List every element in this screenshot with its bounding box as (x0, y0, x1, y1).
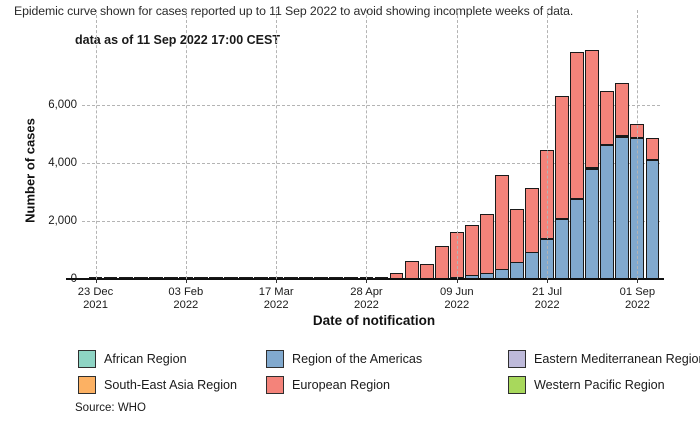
gridline-vertical (96, 10, 97, 279)
x-tick-label: 28 Apr2022 (350, 286, 382, 312)
x-tick-label: 23 Dec2021 (78, 286, 113, 312)
gridline-vertical (637, 10, 638, 279)
x-tick-mark (637, 279, 638, 283)
legend-label: Western Pacific Region (534, 378, 665, 392)
x-tick-mark (276, 279, 277, 283)
x-tick-mark (547, 279, 548, 283)
legend-label: South-East Asia Region (104, 378, 237, 392)
chart-frame: Number of cases 02,0004,0006,000 23 Dec2… (0, 55, 700, 335)
legend-swatch (266, 376, 284, 394)
header-note: Epidemic curve shown for cases reported … (14, 4, 686, 18)
legend-swatch (266, 350, 284, 368)
x-tick-mark (457, 279, 458, 283)
x-tick-label: 09 Jun2022 (440, 286, 474, 312)
y-tick-label: 6,000 (48, 99, 77, 111)
gridline-vertical (276, 10, 277, 279)
legend-item[interactable]: European Region (266, 376, 508, 394)
gridline-vertical (457, 10, 458, 279)
legend-item[interactable]: Region of the Americas (266, 350, 508, 368)
gridline-vertical (186, 10, 187, 279)
legend-swatch (78, 350, 96, 368)
legend-label: Region of the Americas (292, 352, 422, 366)
legend-item[interactable]: African Region (78, 350, 266, 368)
legend-swatch (78, 376, 96, 394)
x-tick-label: 03 Feb2022 (168, 286, 203, 312)
legend-swatch (508, 376, 526, 394)
legend-label: African Region (104, 352, 187, 366)
gridline-vertical (547, 10, 548, 279)
legend-item[interactable]: Western Pacific Region (508, 376, 678, 394)
y-axis-title: Number of cases (23, 81, 38, 261)
y-tick-label: 4,000 (48, 157, 77, 169)
x-tick-mark (96, 279, 97, 283)
plot-area: 02,0004,0006,000 23 Dec202103 Feb202217 … (88, 58, 660, 279)
x-tick-mark (186, 279, 187, 283)
chart-page: Epidemic curve shown for cases reported … (0, 0, 700, 425)
legend-label: Eastern Mediterranean Region (534, 352, 700, 366)
source-label: Source: WHO (75, 402, 146, 414)
x-tick-label: 01 Sep2022 (620, 286, 655, 312)
legend-swatch (508, 350, 526, 368)
y-tick-label: 2,000 (48, 215, 77, 227)
x-tick-label: 17 Mar2022 (259, 286, 294, 312)
legend-item[interactable]: South-East Asia Region (78, 376, 266, 394)
x-axis-title: Date of notification (88, 313, 660, 328)
legend-label: European Region (292, 378, 390, 392)
x-tick-mark (366, 279, 367, 283)
legend-item[interactable]: Eastern Mediterranean Region (508, 350, 678, 368)
x-tick-layer: 23 Dec202103 Feb202217 Mar202228 Apr2022… (88, 58, 660, 279)
gridline-vertical (366, 10, 367, 279)
x-tick-label: 21 Jul2022 (532, 286, 562, 312)
legend: African RegionRegion of the AmericasEast… (78, 346, 678, 398)
data-as-of-caption: data as of 11 Sep 2022 17:00 CEST (75, 33, 280, 47)
